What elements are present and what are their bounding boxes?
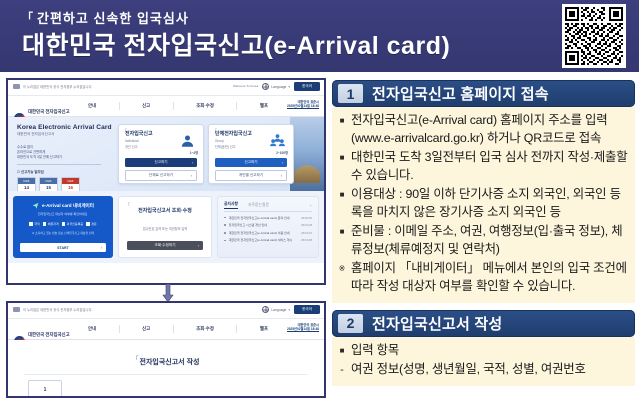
navigator-subtitle: 전자입국신고 대상자 여부를 확인하세요. (19, 212, 107, 216)
page-header: 「간편하고 신속한 입국심사 대한민국 전자입국신고(e-Arrival car… (0, 0, 639, 72)
standard-time-value: 2025년02월14일 18:48 (287, 105, 319, 109)
step-1-title: 전자입국신고 홈페이지 접속 (372, 83, 549, 104)
topbar-right: Welcome To Korea Language ▾ 한국어 (233, 82, 320, 91)
nav-divider (236, 325, 237, 333)
website-screenshot-form[interactable]: 이 누리집은 대한민국 공식 전자정부 누리집입니다. Language ▾ 한… (6, 301, 326, 398)
paper-plane-icon (32, 202, 39, 209)
site-nav: 대한민국 전자입국신고 e-Arrival card 안내 신고 조회·수정 헬… (8, 96, 324, 117)
group-icon (270, 133, 285, 148)
language-selector[interactable]: Language ▾ (262, 83, 290, 90)
chevron-right-icon: › (198, 244, 199, 248)
card-title: 전자입국신고 (125, 130, 153, 137)
checkbox-icon (62, 222, 65, 225)
nav-item-guide[interactable]: 안내 (88, 103, 96, 109)
navigator-chip-label: 국적 (34, 222, 40, 226)
bullet-icon (224, 232, 226, 234)
flag-icon (13, 84, 20, 89)
korean-language-button[interactable]: 한국어 (294, 82, 320, 91)
standard-time-value: 2025년02월14일 18:48 (287, 328, 319, 332)
card-title: 단체전자입국신고 (215, 130, 252, 137)
bullet-icon: ■ (338, 186, 346, 222)
gov-banner-text: 이 누리집은 대한민국 공식 전자정부 누리집입니다. (23, 84, 93, 89)
nav-divider (236, 102, 237, 110)
notice-tabs: 공지사항 자주묻는질문 + (224, 202, 312, 212)
nav-divider (119, 325, 120, 333)
navigator-title: e-Arrival card 내비게이터 (42, 203, 94, 209)
nav-divider (173, 325, 174, 333)
notice-more-button[interactable]: + (310, 204, 312, 208)
bullet-text: 전자입국신고(e-Arrival card) 홈페이지 주소를 입력 (www.… (351, 112, 629, 148)
qr-code[interactable] (562, 4, 626, 68)
hero-section: Korea Electronic Arrival Card 대한민국 전자입국신… (8, 117, 324, 191)
home-tiles: e-Arrival card 내비게이터 전자입국신고 대상자 여부를 확인하세… (8, 191, 324, 263)
navigator-tile[interactable]: e-Arrival card 내비게이터 전자입국신고 대상자 여부를 확인하세… (13, 196, 113, 258)
step-1-header: 1 전자입국신고 홈페이지 접속 (332, 80, 635, 107)
calendar-day[interactable]: FEB 16 (61, 177, 80, 191)
checkbox-icon (86, 222, 89, 225)
nav-item-lookup[interactable]: 조회·수정 (196, 326, 214, 332)
navigator-head: e-Arrival card 내비게이터 (19, 202, 107, 209)
bullet-icon: ■ (338, 223, 346, 259)
notice-date: 25/01/16 (301, 231, 312, 235)
chevron-right-icon: › (282, 161, 283, 165)
card-secondary-label: 단체로 신고하기 (149, 173, 173, 178)
nav-item-guide[interactable]: 안내 (88, 326, 96, 332)
gov-banner-text: 이 누리집은 대한민국 공식 전자정부 누리집입니다. (23, 307, 93, 312)
calendar-row: FEB 14 FEB 15 FEB 16 (17, 177, 109, 191)
step-2-section: 2 전자입국신고서 작성 ■ 입력 항목 - 여권 정보(성명, 생년월일, 국… (332, 310, 635, 386)
notice-row[interactable]: 대한민국 전자입국신고(e-Arrival card) 이용 안내 25/01/… (224, 231, 312, 235)
korean-language-button[interactable]: 한국어 (294, 305, 320, 314)
site-topbar: 이 누리집은 대한민국 공식 전자정부 누리집입니다. Welcome To K… (8, 80, 324, 96)
bullet-item: ■ 이용대상 : 90일 이하 단기사증 소지 외국인, 외국인 등록을 마치지… (338, 186, 629, 222)
card-secondary-label: 개인별 신고하기 (239, 173, 263, 178)
declare-card-individual[interactable]: 「 전자입국신고 Individual 개인 신고 1~4명 신고하기 › (118, 124, 204, 184)
calendar-day[interactable]: FEB 15 (39, 177, 58, 191)
notice-date: 25/01/08 (301, 238, 312, 242)
nav-item-help[interactable]: 헬프 (260, 103, 268, 109)
person-icon (180, 133, 195, 148)
card-count: 2~100명 (276, 150, 288, 155)
screenshots-column: 이 누리집은 대한민국 공식 전자정부 누리집입니다. Welcome To K… (6, 78, 326, 398)
chevron-right-icon: › (101, 246, 102, 250)
nav-divider (173, 102, 174, 110)
step-1-body: ■ 전자입국신고(e-Arrival card) 홈페이지 주소를 입력 (ww… (332, 107, 635, 303)
form-page-title: 「전자입국신고서 작성 (8, 354, 324, 367)
step-2-body: ■ 입력 항목 - 여권 정보(성명, 생년월일, 국적, 성별, 여권번호 (332, 337, 635, 386)
chevron-right-icon: › (191, 174, 192, 178)
language-label: Language (271, 308, 286, 312)
tab-notices[interactable]: 공지사항 (224, 202, 238, 209)
hero-lines: 수수료 없이 온라인으로 간편하게 대한민국 도착 3일 전에 신고하기 (17, 145, 109, 159)
hero-title-kr: 대한민국 전자입국신고서 (17, 132, 109, 137)
bullet-text: 대한민국 도착 3일전부터 입국 심사 전까지 작성·제출할 수 있습니다. (351, 149, 629, 185)
chevron-down-icon: ▾ (288, 308, 290, 312)
bullet-item: ■ 전자입국신고(e-Arrival card) 홈페이지 주소를 입력 (ww… (338, 112, 629, 148)
notice-row[interactable]: 대한민국 전자입국신고(e-Arrival card) 문의 안내 25/02/… (224, 216, 312, 220)
card-primary-button[interactable]: 신고하기 › (215, 158, 287, 167)
topbar-right: Language ▾ 한국어 (262, 305, 320, 314)
hero-title-en: Korea Electronic Arrival Card (17, 124, 109, 131)
navigator-chip-label: 체류자격 (48, 222, 59, 226)
bullet-item: ■ 대한민국 도착 3일전부터 입국 심사 전까지 작성·제출할 수 있습니다. (338, 149, 629, 185)
bullet-icon: ■ (338, 112, 346, 148)
globe-icon (262, 83, 269, 90)
notice-row[interactable]: 전자입국신고 시스템 개선 안내 25/01/28 (224, 223, 312, 227)
lookup-button[interactable]: 조회·수정하기 › (127, 241, 203, 250)
card-subtitle-kr: 개인 신고 (125, 144, 138, 149)
navigator-start-label: START (57, 246, 69, 250)
calendar-label: ☑ 신고가능 일자임 (17, 169, 109, 174)
steps-column: 1 전자입국신고 홈페이지 접속 ■ 전자입국신고(e-Arrival card… (332, 80, 635, 386)
hero-text-block: Korea Electronic Arrival Card 대한민국 전자입국신… (17, 124, 109, 191)
quote-mark: 「 (125, 202, 130, 209)
header-subtitle: 「간편하고 신속한 입국심사 (22, 8, 189, 27)
language-label: Language (271, 85, 286, 89)
arrow-down-icon (161, 284, 175, 302)
note-icon: ※ (338, 260, 346, 296)
notice-date: 25/01/28 (301, 223, 312, 227)
standard-time: 대한민국 표준시 2025년02월14일 18:48 (287, 101, 319, 109)
nav-item-lookup[interactable]: 조회·수정 (196, 103, 214, 109)
chevron-right-icon: › (281, 174, 282, 178)
gov-banner: 이 누리집은 대한민국 공식 전자정부 누리집입니다. (13, 84, 93, 89)
flag-icon (13, 307, 20, 312)
bullet-icon (224, 217, 226, 219)
logo-label-kr: 대한민국 전자입국신고 (28, 332, 70, 337)
tab-faq[interactable]: 자주묻는질문 (248, 203, 269, 208)
card-subtitle-en: Individual (125, 139, 138, 143)
declare-card-group[interactable]: 「 단체전자입국신고 Group 단체(동반) 신고 (208, 124, 294, 184)
bullet-text: 이용대상 : 90일 이하 단기사증 소지 외국인, 외국인 등록을 마치지 않… (351, 186, 629, 222)
bullet-text: 입력 항목 (351, 342, 399, 360)
navigator-chip-label: 외국인등록증 (67, 222, 84, 226)
bullet-icon: ■ (338, 342, 346, 360)
divider (24, 374, 308, 375)
checkbox-icon (29, 222, 32, 225)
nav-item-help[interactable]: 헬프 (260, 326, 268, 332)
hero-line-3: 대한민국 도착 3일 전에 신고하기 (17, 155, 109, 160)
dash-icon: - (338, 361, 346, 379)
nav-item-declare[interactable]: 신고 (142, 103, 150, 109)
navigator-chip[interactable]: 체류자격 (43, 222, 59, 226)
quote-mark: 「 (133, 357, 139, 363)
step-2-title: 전자입국신고서 작성 (372, 313, 502, 334)
notice-text: 대한민국 전자입국신고(e-Arrival card) 이용 안내 (229, 231, 299, 235)
form-page-body: 「전자입국신고서 작성 1 (8, 340, 324, 398)
bullet-item: ■ 입력 항목 (338, 342, 629, 360)
calendar-day[interactable]: FEB 14 (17, 177, 36, 191)
notice-tile[interactable]: 공지사항 자주묻는질문 + 대한민국 전자입국신고(e-Arrival card… (217, 196, 319, 258)
form-step-box[interactable]: 1 (28, 380, 62, 398)
website-screenshot-home[interactable]: 이 누리집은 대한민국 공식 전자정부 누리집입니다. Welcome To K… (6, 78, 326, 285)
notice-date: 25/02/05 (301, 216, 312, 220)
gov-banner: 이 누리집은 대한민국 공식 전자정부 누리집입니다. (13, 307, 93, 312)
card-secondary-button[interactable]: 단체로 신고하기 › (125, 170, 197, 181)
bullet-icon (224, 224, 226, 226)
calendar-date: 14 (18, 184, 35, 191)
navigator-note: ※ 소지하고 있는 번호 정보·선택입국신고 대상을 선택 (19, 231, 107, 235)
lookup-button-label: 조회·수정하기 (154, 243, 175, 248)
bullet-icon: ■ (338, 149, 346, 185)
card-primary-button[interactable]: 신고하기 › (125, 158, 197, 167)
bullet-item-note: ※ 홈페이지 「내비게이터」 메뉴에서 본인의 입국 조건에 따라 작성 대상자… (338, 260, 629, 296)
lookup-tile[interactable]: 「 전자입국신고서 조회·수정 접수번호 입력 또는 여권정보 입력 조회·수정… (118, 196, 212, 258)
chevron-right-icon: › (192, 161, 193, 165)
form-page-title-text: 전자입국신고서 작성 (140, 359, 200, 366)
bullet-icon (224, 240, 226, 242)
notice-text: 전자입국신고 시스템 개선 안내 (229, 223, 299, 227)
step-2-header: 2 전자입국신고서 작성 (332, 310, 635, 337)
chevron-down-icon: ▾ (288, 85, 290, 89)
card-subtitle-kr: 단체(동반) 신고 (215, 144, 236, 149)
qr-code-icon (565, 7, 623, 65)
notice-row[interactable]: 대한민국 전자입국신고(e-Arrival card) 서비스 개시 25/01… (224, 238, 312, 242)
logo-label-kr: 대한민국 전자입국신고 (28, 109, 70, 114)
step-1-number: 1 (338, 84, 363, 103)
infographic-page: 「간편하고 신속한 입국심사 대한민국 전자입국신고(e-Arrival car… (0, 0, 639, 403)
step-2-number: 2 (338, 314, 363, 333)
bullet-text: 홈페이지 「내비게이터」 메뉴에서 본인의 입국 조건에 따라 작성 대상자 여… (351, 260, 629, 296)
bullet-sub-item: - 여권 정보(성명, 생년월일, 국적, 성별, 여권번호 (338, 361, 629, 379)
navigator-chip[interactable]: 국적 (29, 222, 39, 226)
nav-menu: 안내 신고 조회·수정 헬프 (88, 96, 268, 116)
card-subtitle-en: Group (215, 139, 224, 143)
nav-menu: 안내 신고 조회·수정 헬프 (88, 319, 268, 339)
bullet-item: ■ 준비물 : 이메일 주소, 여권, 여행정보(입·출국 정보), 체류정보(… (338, 223, 629, 259)
nav-divider (119, 102, 120, 110)
card-secondary-button[interactable]: 개인별 신고하기 › (215, 170, 287, 181)
navigator-start-button[interactable]: START › (20, 243, 106, 252)
header-bracket: 「 (22, 12, 34, 24)
card-count: 1~4명 (190, 150, 198, 155)
card-primary-label: 신고하기 (154, 160, 167, 165)
navigator-chip[interactable]: 경유 (86, 222, 96, 226)
card-primary-label: 신고하기 (244, 160, 257, 165)
lookup-subtitle: 접수번호 입력 또는 여권정보 입력 (125, 226, 205, 231)
lookup-title: 전자입국신고서 조회·수정 (125, 207, 205, 214)
welcome-text: Welcome To Korea (233, 85, 258, 88)
notice-text: 대한민국 전자입국신고(e-Arrival card) 서비스 개시 (229, 238, 299, 242)
divider (17, 164, 101, 165)
header-subtitle-text: 간편하고 신속한 입국심사 (37, 11, 189, 26)
hero-photo (290, 117, 324, 191)
globe-icon (262, 306, 269, 313)
standard-time: 대한민국 표준시 2025년02월14일 18:48 (287, 324, 319, 332)
calendar-date: 15 (40, 184, 57, 191)
language-selector[interactable]: Language ▾ (262, 306, 290, 313)
site-nav: 대한민국 전자입국신고 e-Arrival card 안내 신고 조회·수정 헬… (8, 319, 324, 340)
site-topbar: 이 누리집은 대한민국 공식 전자정부 누리집입니다. Language ▾ 한… (8, 303, 324, 319)
nav-item-declare[interactable]: 신고 (142, 326, 150, 332)
checkbox-icon (43, 222, 46, 225)
notice-text: 대한민국 전자입국신고(e-Arrival card) 문의 안내 (229, 216, 299, 220)
page-title: 대한민국 전자입국신고(e-Arrival card) (22, 26, 450, 62)
navigator-chips: 국적 체류자격 외국인등록증 경유 (19, 222, 107, 226)
bullet-text: 준비물 : 이메일 주소, 여권, 여행정보(입·출국 정보), 체류정보(체류… (351, 223, 629, 259)
navigator-chip-label: 경유 (91, 222, 97, 226)
bullet-text: 여권 정보(성명, 생년월일, 국적, 성별, 여권번호 (351, 361, 586, 379)
calendar-date: 16 (62, 184, 79, 191)
navigator-chip[interactable]: 외국인등록증 (62, 222, 83, 226)
